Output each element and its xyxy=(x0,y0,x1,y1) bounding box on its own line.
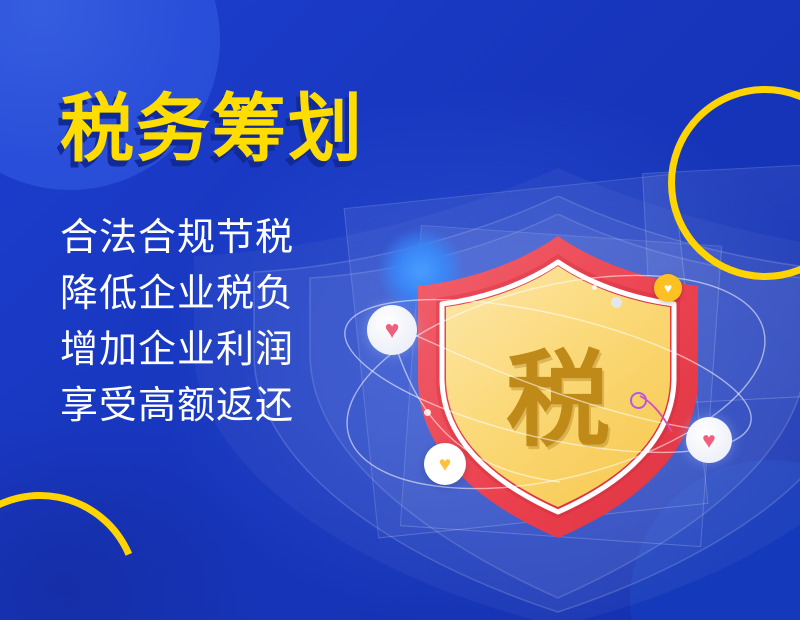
heart-badge-left: ♥ xyxy=(367,305,417,355)
heart-badge-top-right: ♥ xyxy=(654,274,682,302)
page-title: 税务筹划 xyxy=(60,92,364,166)
heart-icon: ♥ xyxy=(439,454,451,475)
heart-icon: ♥ xyxy=(385,318,400,343)
list-item: 合法合规节税 xyxy=(60,218,294,256)
heart-badge-bottom-left: ♥ xyxy=(424,443,466,485)
list-item: 降低企业税负 xyxy=(60,274,294,312)
heart-badge-right: ♥ xyxy=(686,417,732,463)
heart-icon: ♥ xyxy=(664,281,672,295)
heart-icon: ♥ xyxy=(702,429,716,452)
benefit-list: 合法合规节税 降低企业税负 增加企业利润 享受高额返还 xyxy=(60,218,294,442)
decorative-dot-a xyxy=(424,409,431,416)
list-item: 享受高额返还 xyxy=(60,386,294,424)
decorative-dot-b xyxy=(611,297,622,308)
list-item: 增加企业利润 xyxy=(60,330,294,368)
tax-planning-banner: 税 ♥ ♥ ♥ ♥ 税务筹划 合法合规节税 降低企业税负 增加企业利润 享受高额… xyxy=(0,0,800,620)
purple-ring-icon xyxy=(630,392,647,409)
decorative-dot-c xyxy=(592,285,597,290)
